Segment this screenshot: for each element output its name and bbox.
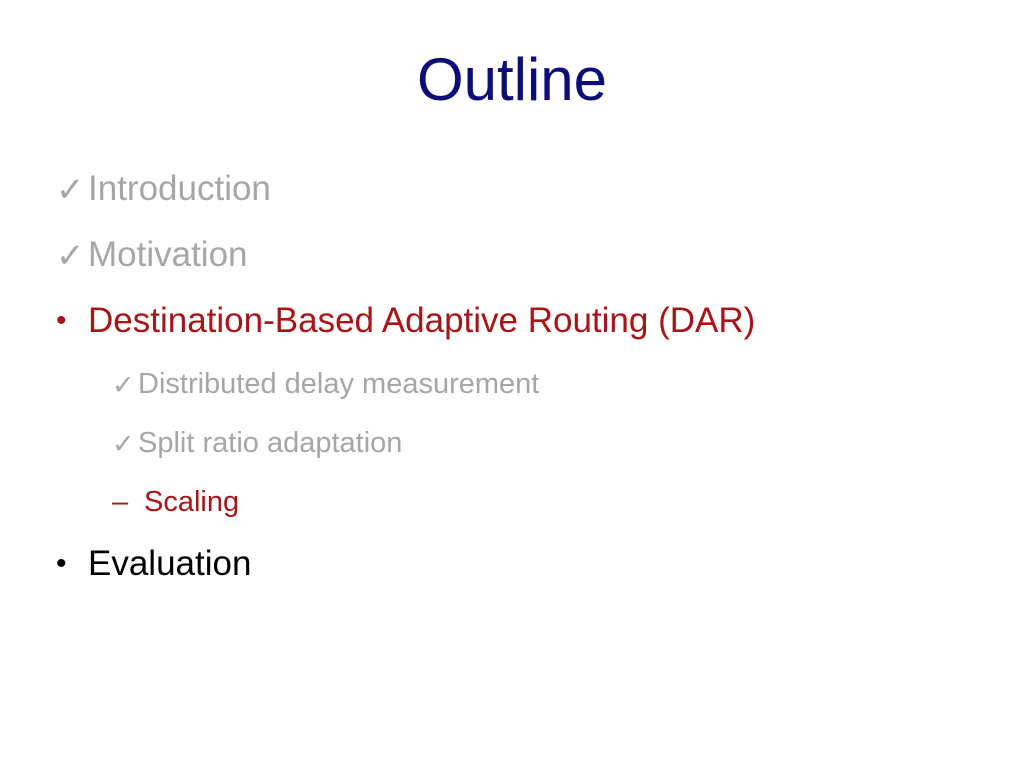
list-item[interactable]: – Scaling: [112, 484, 956, 543]
dash-icon: –: [112, 486, 144, 519]
outline-list: ✓ Introduction ✓ Motivation • Destinatio…: [56, 168, 956, 609]
list-item[interactable]: • Evaluation: [56, 543, 956, 609]
presentation-slide: Outline ✓ Introduction ✓ Motivation • De…: [0, 0, 1024, 768]
list-item[interactable]: ✓ Motivation: [56, 234, 956, 300]
bullet-dot-icon: •: [56, 304, 88, 338]
list-item-label: Evaluation: [88, 543, 251, 585]
list-item[interactable]: ✓ Introduction: [56, 168, 956, 234]
list-item[interactable]: ✓ Split ratio adaptation: [112, 425, 956, 484]
list-item[interactable]: • Destination-Based Adaptive Routing (DA…: [56, 300, 956, 366]
check-icon: ✓: [56, 170, 88, 210]
list-item-label: Split ratio adaptation: [138, 425, 402, 461]
check-icon: ✓: [56, 236, 88, 276]
list-item[interactable]: ✓ Distributed delay measurement: [112, 366, 956, 425]
check-icon: ✓: [112, 429, 138, 460]
list-item-label: Scaling: [144, 484, 239, 520]
list-item-label: Introduction: [88, 168, 271, 210]
slide-title: Outline: [0, 46, 1024, 114]
bullet-dot-icon: •: [56, 547, 88, 581]
list-item-label: Destination-Based Adaptive Routing (DAR): [88, 300, 755, 342]
check-icon: ✓: [112, 370, 138, 401]
list-item-label: Motivation: [88, 234, 248, 276]
list-item-label: Distributed delay measurement: [138, 366, 539, 402]
